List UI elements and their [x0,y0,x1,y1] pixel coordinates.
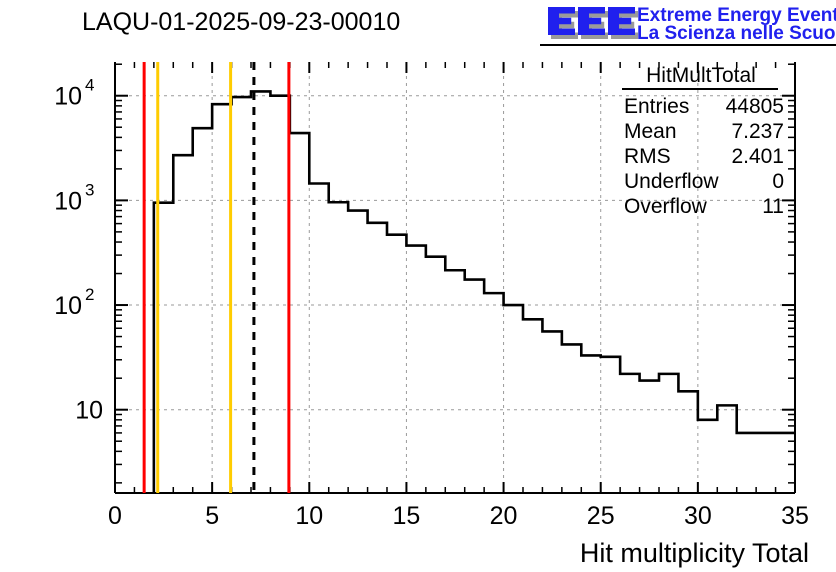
x-axis-tick-label: 35 [781,502,809,530]
page-title: LAQU-01-2025-09-23-00010 [82,8,400,36]
x-axis-tick-label: 20 [490,502,518,530]
stats-row-value: 2.401 [731,145,784,168]
x-axis-tick-label: 25 [587,502,615,530]
y-axis-tick-exponent: 2 [85,285,94,304]
stats-row-value: 44805 [726,95,784,118]
root-plot-svg: 0510152025303510102103104HitMultTotalEnt… [0,0,836,572]
x-axis-title: Hit multiplicity Total [580,538,809,568]
x-axis-tick-label: 10 [295,502,323,530]
eee-logo-mark [548,18,571,25]
eee-logo-mark [608,18,631,25]
stats-row-label: Mean [624,120,677,143]
eee-logo-mark [578,18,601,25]
stats-row-value: 11 [762,195,784,218]
eee-logo-mark [548,29,575,36]
x-axis-tick-label: 0 [108,502,122,530]
y-axis-tick-exponent: 4 [85,76,94,95]
eee-logo-mark [548,7,575,14]
stats-row-label: Overflow [624,195,708,218]
eee-logo-mark [578,29,605,36]
histogram-outline [154,91,795,493]
eee-logo-mark [608,29,635,36]
stats-row-label: RMS [624,145,671,168]
x-axis-tick-label: 30 [684,502,712,530]
eee-logo-mark [578,7,605,14]
stats-row-value: 0 [772,170,784,193]
stats-row-label: Entries [624,95,689,118]
y-axis-tick-label: 10 [75,397,103,425]
logo-tagline-line2: La Scienza nelle Scuole [637,23,836,44]
stats-row-value: 7.237 [731,120,784,143]
stats-row-label: Underflow [624,170,719,193]
stats-box-title: HitMultTotal [646,64,756,87]
x-axis-tick-label: 15 [393,502,421,530]
eee-logo-mark [608,7,635,14]
y-axis-tick-label: 10 [54,292,82,320]
y-axis-tick-exponent: 3 [85,180,94,199]
y-axis-tick-label: 10 [54,187,82,215]
x-axis-tick-label: 5 [205,502,219,530]
y-axis-tick-label: 10 [54,83,82,111]
histogram-canvas: 0510152025303510102103104HitMultTotalEnt… [0,0,836,572]
